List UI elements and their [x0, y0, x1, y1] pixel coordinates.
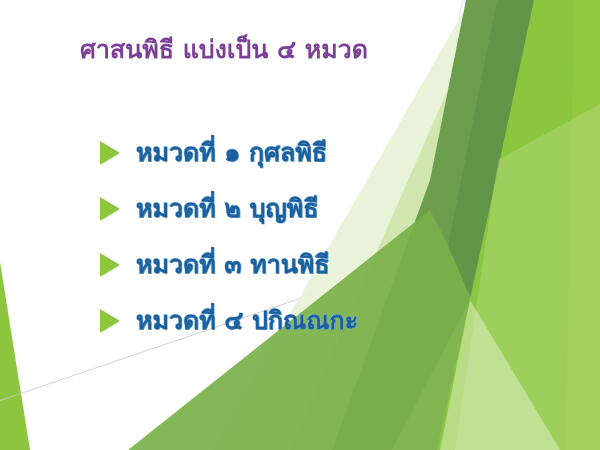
triangle-right-icon	[100, 197, 120, 221]
facet-shape-bright-green-edge	[566, 0, 600, 450]
list-item[interactable]: หมวดที่ ๓ ทานพิธี	[100, 241, 460, 288]
list-item-label: หมวดที่ ๑ กุศลพิธี	[136, 133, 327, 173]
list-item-label: หมวดที่ ๓ ทานพิธี	[136, 245, 330, 285]
triangle-right-icon	[100, 309, 120, 333]
facet-shape-translucent-overlay	[455, 104, 600, 450]
triangle-right-icon	[100, 141, 120, 165]
facet-shape-bright-green-right	[437, 0, 600, 450]
slide-title: ศาสนพิธี แบ่งเป็น ๔ หมวด	[80, 36, 460, 65]
list-item[interactable]: หมวดที่ ๑ กุศลพิธี	[100, 129, 460, 176]
list-item[interactable]: หมวดที่ ๒ บุญพิธี	[100, 185, 460, 232]
bullet-list: หมวดที่ ๑ กุศลพิธี หมวดที่ ๒ บุญพิธี หมว…	[100, 129, 460, 353]
list-item[interactable]: หมวดที่ ๔ ปกิณณกะ	[100, 297, 460, 344]
list-item-label: หมวดที่ ๔ ปกิณณกะ	[136, 301, 358, 341]
list-item-label: หมวดที่ ๒ บุญพิธี	[136, 189, 319, 229]
facet-shape-bottom-left	[0, 262, 30, 450]
presentation-slide: ศาสนพิธี แบ่งเป็น ๔ หมวด หมวดที่ ๑ กุศลพ…	[0, 0, 600, 450]
facet-shape-deep-green-accent	[448, 0, 536, 296]
triangle-right-icon	[100, 253, 120, 277]
